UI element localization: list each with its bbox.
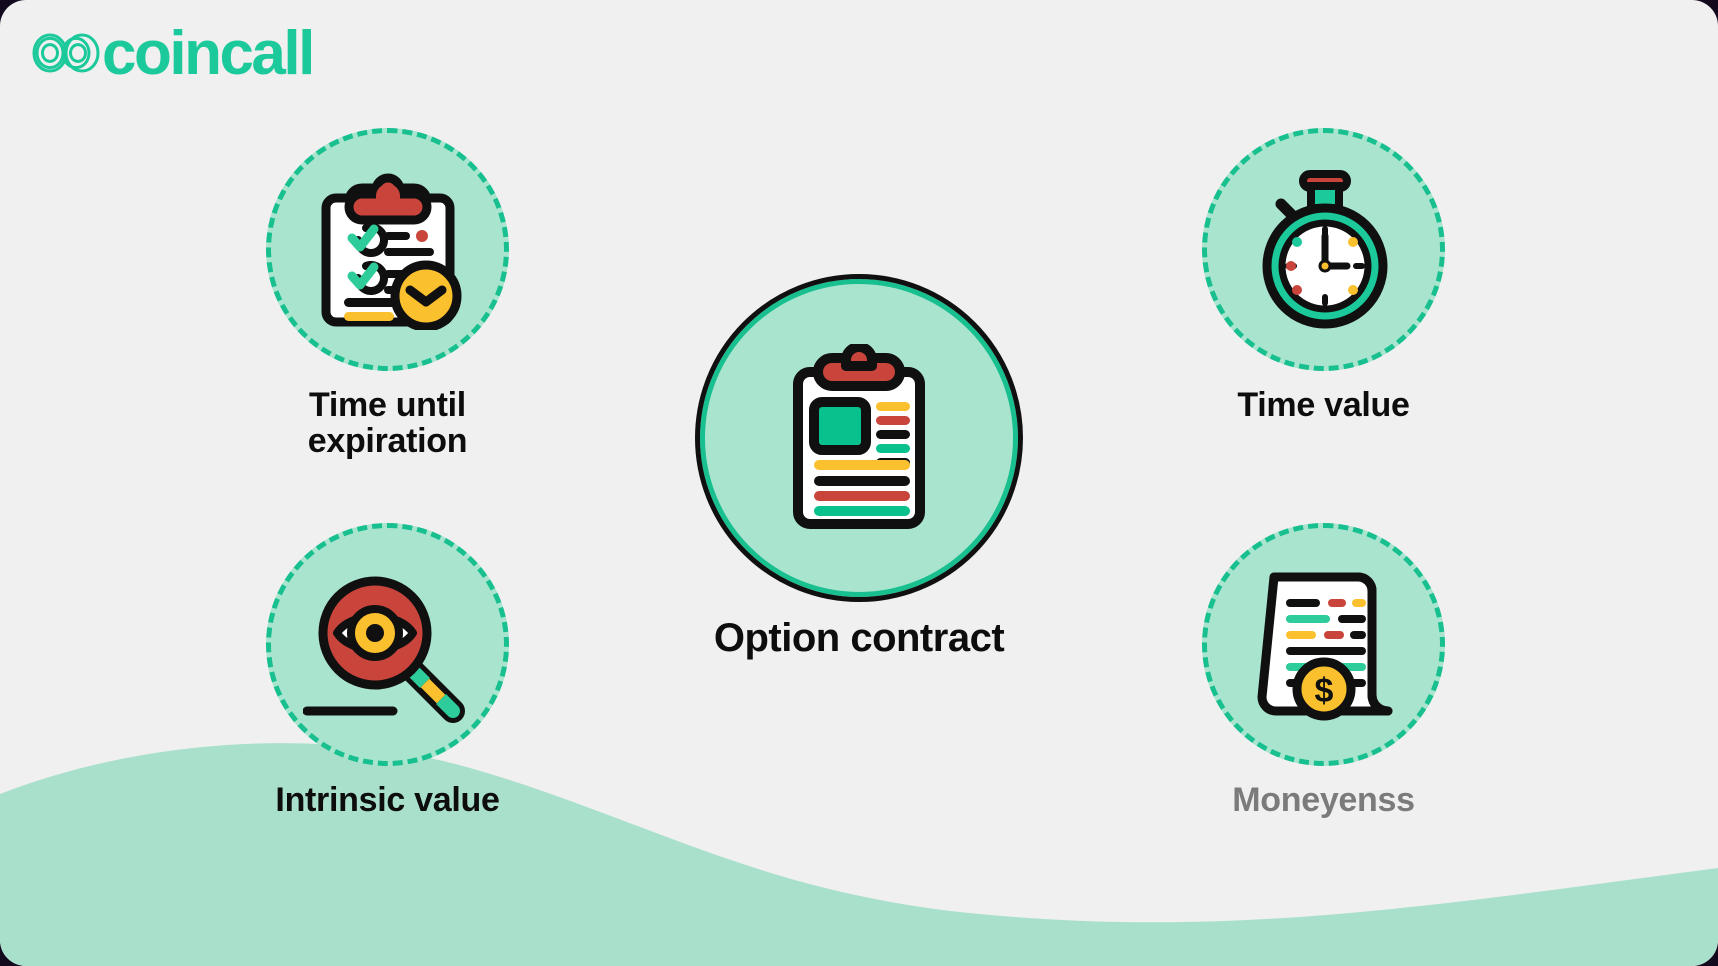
stopwatch-icon bbox=[1245, 166, 1403, 334]
brand-logo: coincall bbox=[26, 18, 313, 88]
node-disc bbox=[266, 128, 509, 371]
mint-wave-decoration bbox=[0, 716, 1718, 966]
node-disc: $ bbox=[1202, 523, 1445, 766]
node-intrinsic-value[interactable]: Intrinsic value bbox=[266, 523, 509, 818]
infinity-icon bbox=[26, 27, 108, 79]
node-label: Moneyenss bbox=[1232, 782, 1414, 818]
clipboard-contract-icon bbox=[788, 344, 930, 532]
infographic-canvas: coincall bbox=[0, 0, 1718, 966]
node-moneyness[interactable]: $ Moneyenss bbox=[1202, 523, 1445, 818]
brand-wordmark: coincall bbox=[102, 23, 313, 85]
magnifier-eye-icon bbox=[303, 565, 473, 725]
center-disc bbox=[700, 279, 1018, 597]
node-label: Time until expiration bbox=[308, 387, 467, 460]
center-label: Option contract bbox=[714, 617, 1004, 660]
node-time-until-expiration[interactable]: Time until expiration bbox=[266, 128, 509, 460]
node-time-value[interactable]: Time value bbox=[1202, 128, 1445, 423]
svg-text:$: $ bbox=[1314, 672, 1333, 710]
clipboard-checklist-clock-icon bbox=[310, 170, 466, 330]
node-label: Time value bbox=[1237, 387, 1409, 423]
node-label: Intrinsic value bbox=[275, 782, 499, 818]
node-option-contract[interactable]: Option contract bbox=[700, 279, 1018, 660]
scroll-dollar-icon: $ bbox=[1248, 563, 1400, 727]
node-disc bbox=[266, 523, 509, 766]
node-disc bbox=[1202, 128, 1445, 371]
